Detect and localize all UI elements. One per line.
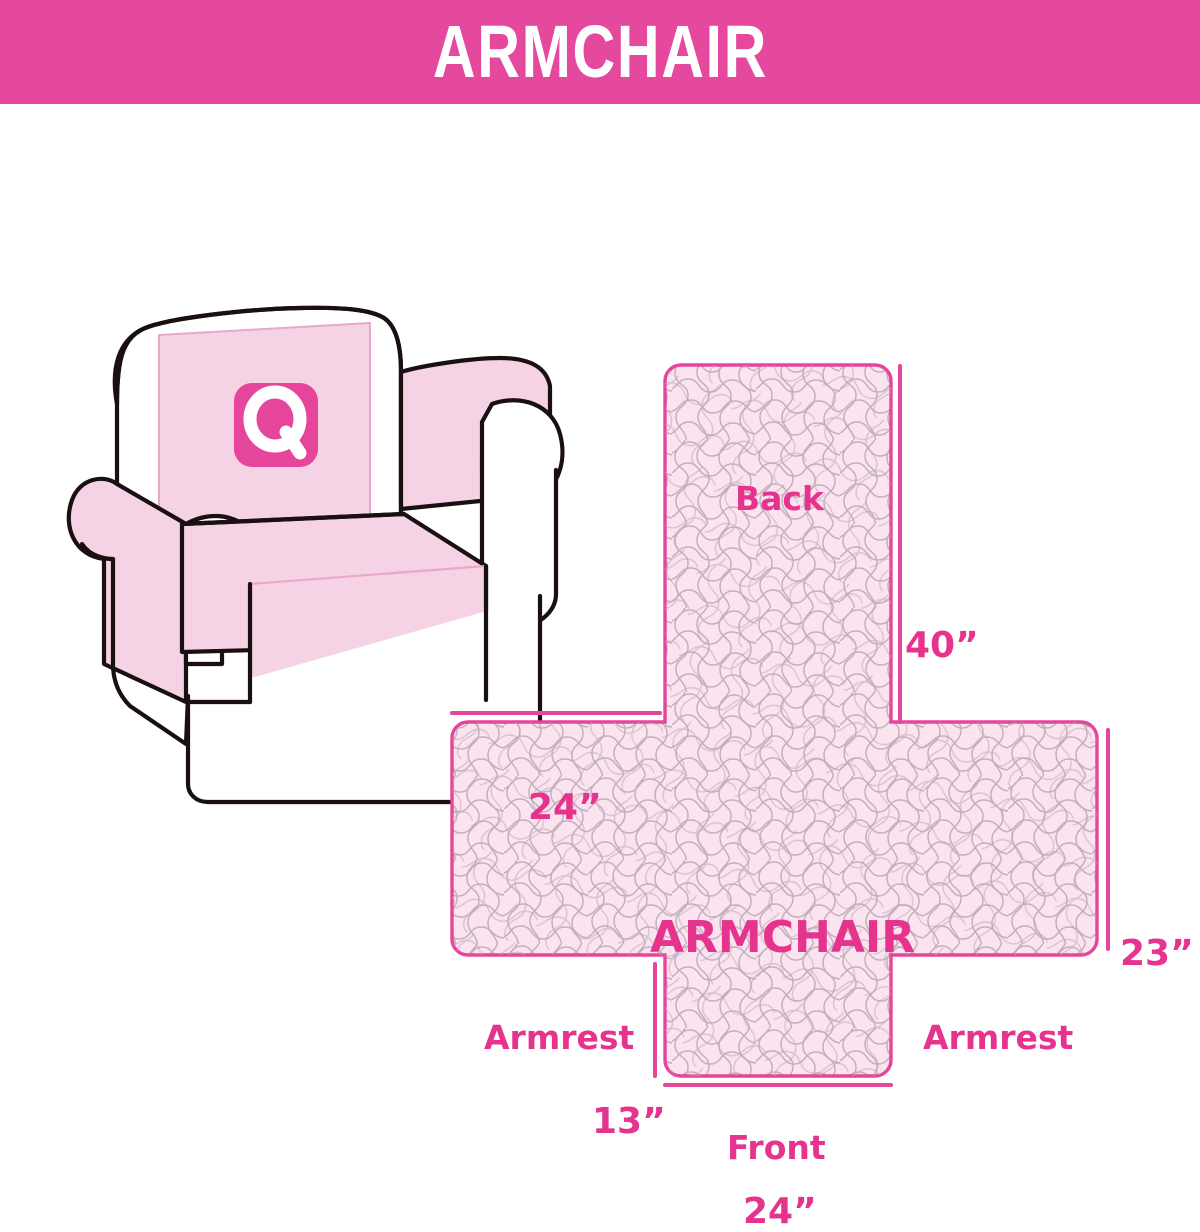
diagram-canvas: Back Armrest Armrest Front ARMCHAIR 40” …	[0, 104, 1200, 1200]
dimension-back-height: 40”	[905, 628, 979, 664]
header-banner: ARMCHAIR	[0, 0, 1200, 104]
page-title: ARMCHAIR	[432, 15, 767, 89]
dimension-front-width: 24”	[743, 1194, 817, 1230]
q-logo-badge	[234, 383, 318, 467]
panel-label-armrest-left: Armrest	[484, 1021, 634, 1054]
panel-label-back: Back	[735, 482, 824, 515]
panel-label-front: Front	[727, 1131, 826, 1164]
dimension-front-drop: 13”	[592, 1104, 666, 1140]
dimension-seat-depth: 23”	[1120, 936, 1194, 972]
panel-label-armrest-right: Armrest	[923, 1021, 1073, 1054]
dimension-armrest-width: 24”	[528, 790, 602, 826]
pattern-center-label: ARMCHAIR	[650, 916, 915, 960]
